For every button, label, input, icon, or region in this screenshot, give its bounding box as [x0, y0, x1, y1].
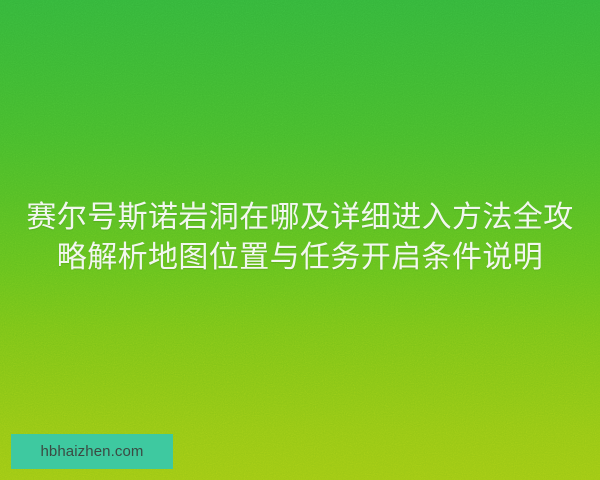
page-title: 赛尔号斯诺岩洞在哪及详细进入方法全攻 略解析地图位置与任务开启条件说明 — [0, 198, 600, 278]
site-watermark-badge: hbhaizhen.com — [11, 434, 173, 469]
title-line-1: 赛尔号斯诺岩洞在哪及详细进入方法全攻 — [18, 198, 582, 238]
title-line-2: 略解析地图位置与任务开启条件说明 — [18, 238, 582, 278]
site-watermark-label: hbhaizhen.com — [40, 444, 143, 459]
banner-graphic: 赛尔号斯诺岩洞在哪及详细进入方法全攻 略解析地图位置与任务开启条件说明 hbha… — [0, 0, 600, 480]
